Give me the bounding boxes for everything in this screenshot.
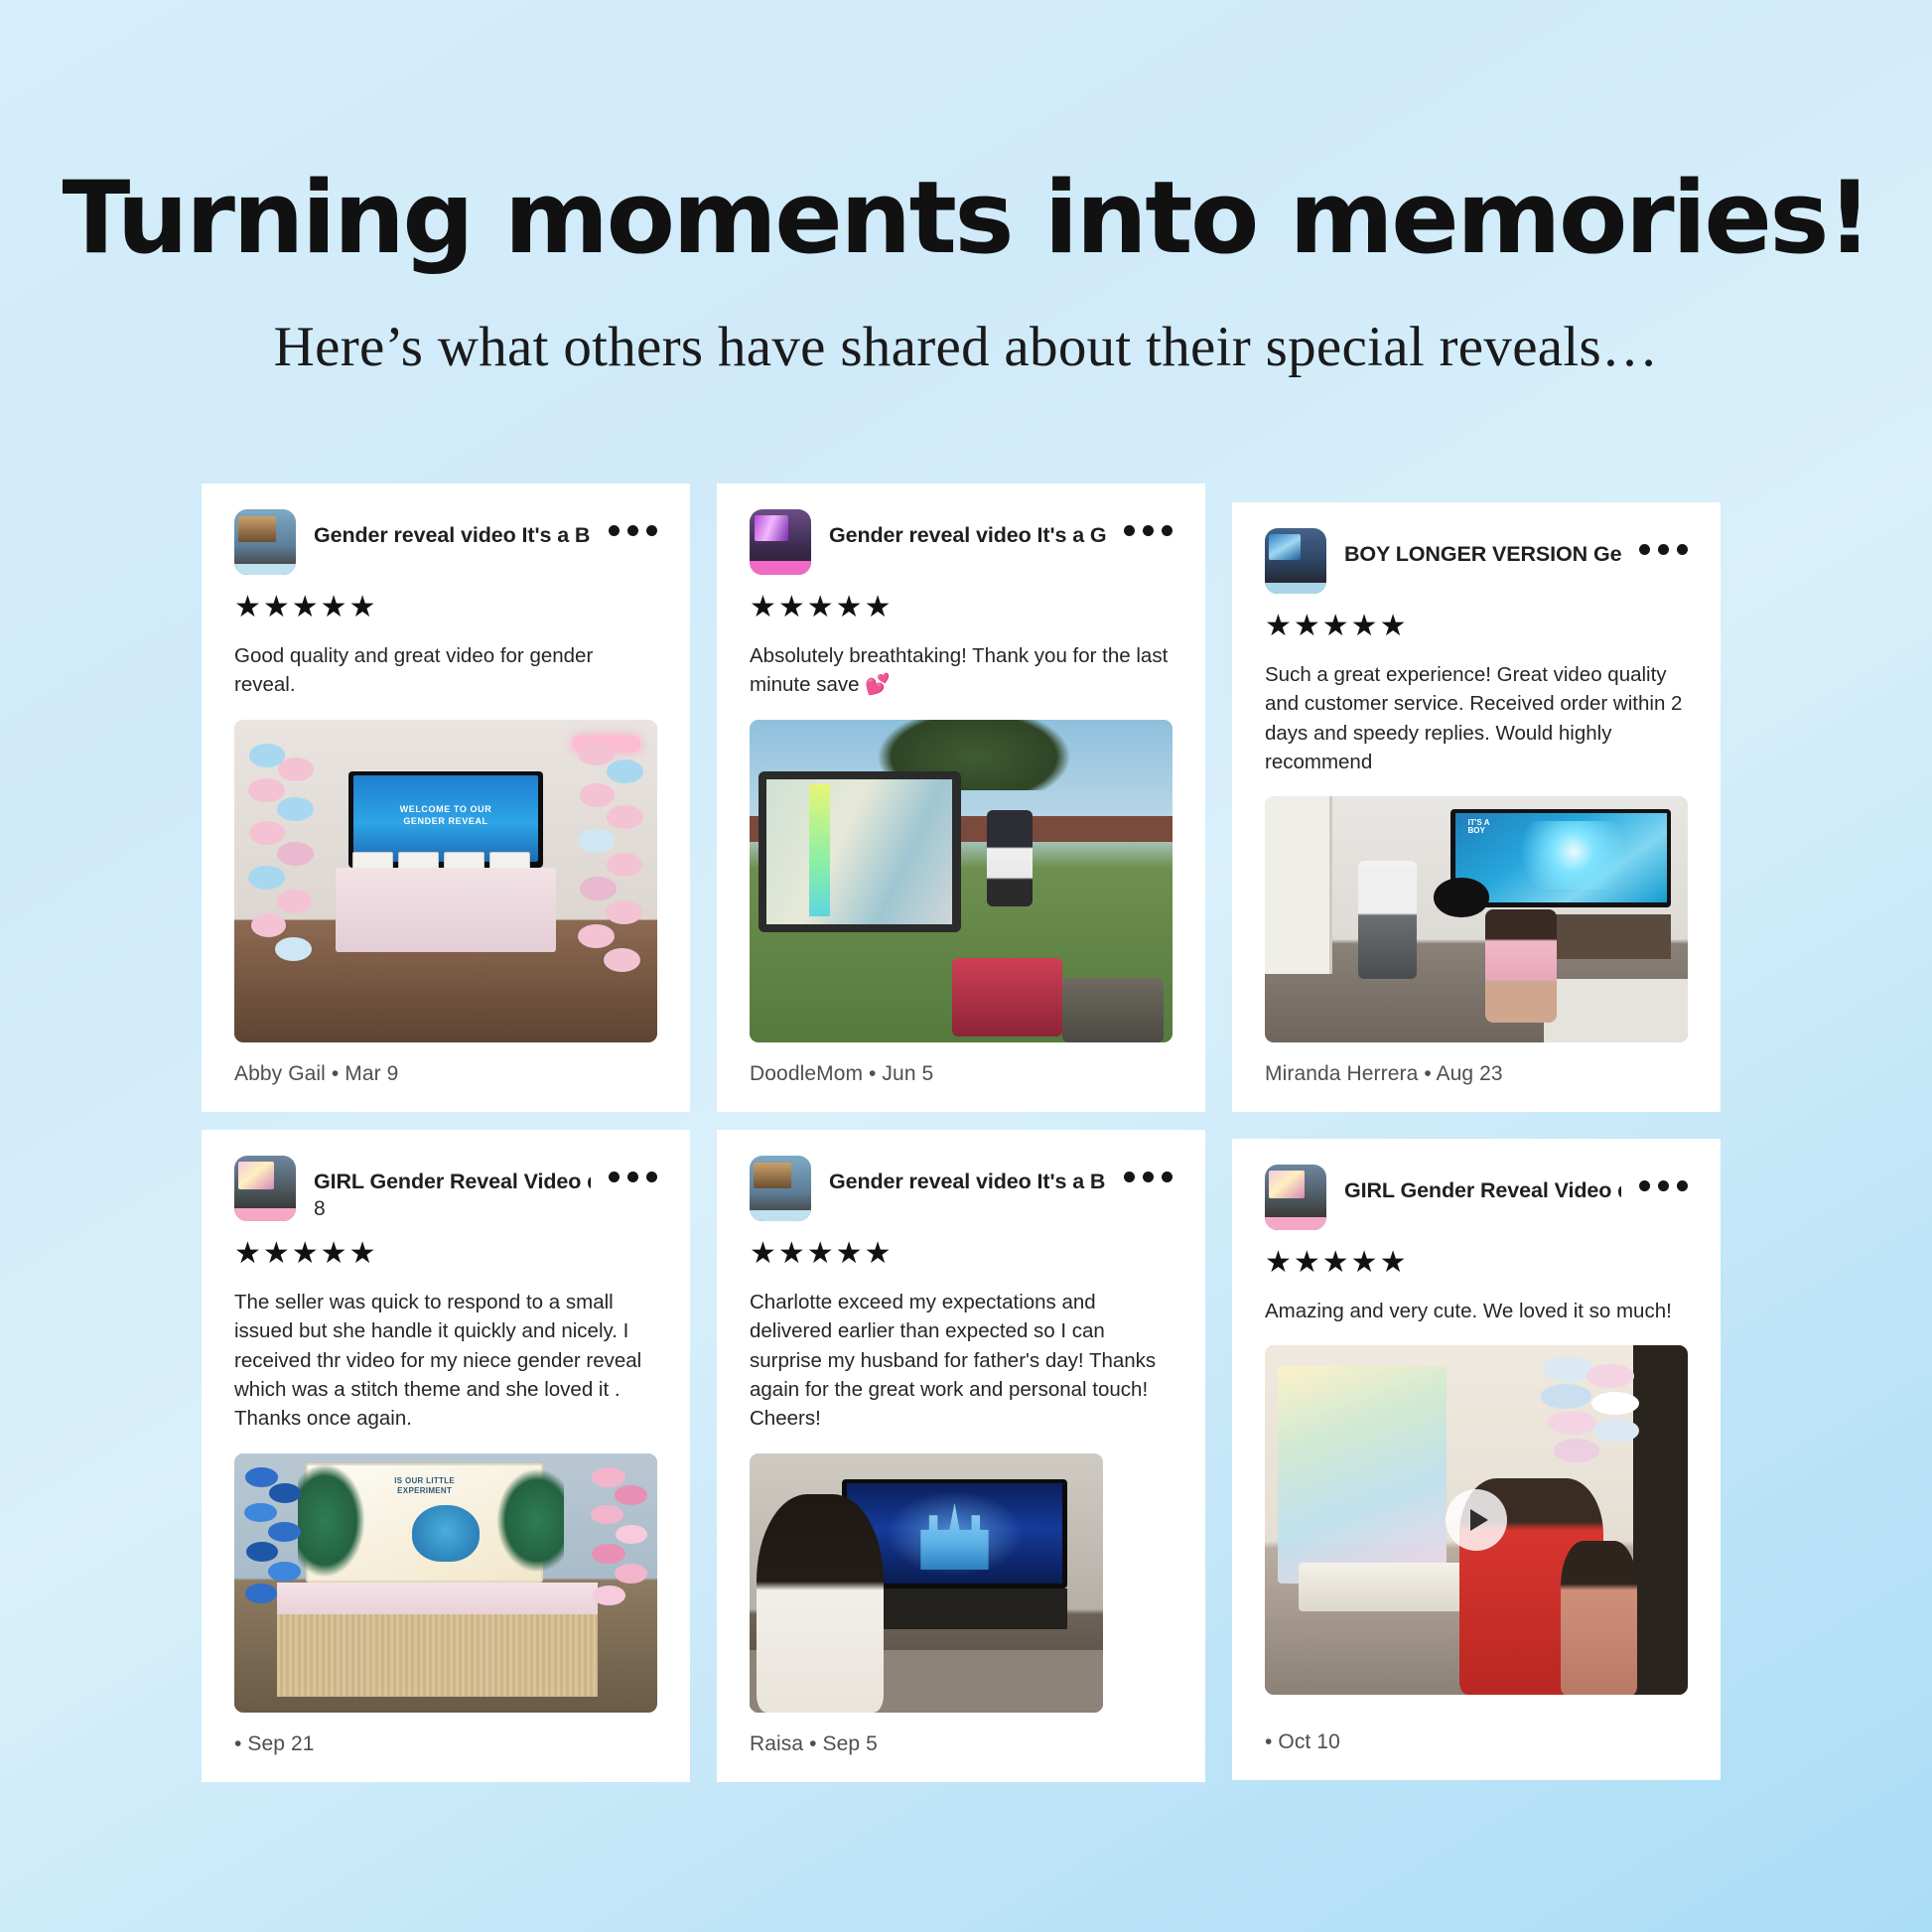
listing-title[interactable]: GIRL Gender Reveal Video digital ... — [1344, 1165, 1621, 1204]
star-rating: ★★★★★ — [750, 593, 1173, 622]
review-card[interactable]: BOY LONGER VERSION Gender ... ★★★★★ Such… — [1232, 502, 1721, 1112]
review-photo[interactable]: WELCOME TO OURGENDER REVEAL — [234, 720, 657, 1042]
review-photo[interactable] — [750, 1453, 1103, 1713]
listing-thumbnail[interactable] — [750, 1156, 811, 1221]
review-card[interactable]: GIRL Gender Reveal Video digital ... 8 ★… — [202, 1130, 690, 1782]
review-photo[interactable]: IS OUR LITTLEEXPERIMENT — [234, 1453, 657, 1713]
listing-item-count: 8 — [314, 1195, 591, 1223]
more-options-icon[interactable] — [609, 509, 657, 536]
review-card-header: GIRL Gender Reveal Video digital ... 8 — [234, 1156, 657, 1221]
review-text: Good quality and great video for gender … — [234, 641, 657, 700]
review-photo[interactable]: IT'S ABOY — [1265, 796, 1688, 1042]
review-card[interactable]: GIRL Gender Reveal Video digital ... ★★★… — [1232, 1139, 1721, 1780]
listing-thumbnail[interactable] — [1265, 528, 1326, 594]
review-photo[interactable] — [750, 720, 1173, 1042]
review-text: Charlotte exceed my expectations and del… — [750, 1288, 1173, 1434]
review-card-header: Gender reveal video It's a Girl! Vide... — [750, 509, 1173, 575]
listing-title[interactable]: BOY LONGER VERSION Gender ... — [1344, 528, 1621, 568]
review-card-header: Gender reveal video It's a Boy! Vide... — [234, 509, 657, 575]
listing-thumbnail[interactable] — [234, 1156, 296, 1221]
review-footer: DoodleMom • Jun 5 — [750, 1042, 1173, 1086]
star-rating: ★★★★★ — [750, 1239, 1173, 1269]
page-title: Turning moments into memories! — [0, 167, 1932, 269]
review-card-header: BOY LONGER VERSION Gender ... — [1265, 528, 1688, 594]
play-icon[interactable] — [1446, 1489, 1507, 1551]
review-card[interactable]: Gender reveal video It's a Boy! Vide... … — [717, 1130, 1205, 1782]
star-rating: ★★★★★ — [234, 1239, 657, 1269]
listing-thumbnail[interactable] — [1265, 1165, 1326, 1230]
review-text: The seller was quick to respond to a sma… — [234, 1288, 657, 1434]
listing-title[interactable]: GIRL Gender Reveal Video digital ... 8 — [314, 1156, 591, 1223]
star-rating: ★★★★★ — [1265, 1248, 1688, 1278]
review-footer: • Sep 21 — [234, 1713, 657, 1756]
review-text: Amazing and very cute. We loved it so mu… — [1265, 1297, 1688, 1325]
more-options-icon[interactable] — [1124, 1156, 1173, 1182]
more-options-icon[interactable] — [1639, 528, 1688, 555]
review-video[interactable] — [1265, 1345, 1688, 1695]
page-subtitle: Here’s what others have shared about the… — [0, 315, 1932, 379]
review-footer: • Oct 10 — [1265, 1711, 1688, 1754]
review-footer: Abby Gail • Mar 9 — [234, 1042, 657, 1086]
review-footer: Raisa • Sep 5 — [750, 1713, 1173, 1756]
review-text: Absolutely breathtaking! Thank you for t… — [750, 641, 1173, 700]
reviews-grid: Gender reveal video It's a Boy! Vide... … — [202, 483, 1730, 1782]
listing-title[interactable]: Gender reveal video It's a Boy! Vide... — [314, 509, 591, 549]
review-footer: Miranda Herrera • Aug 23 — [1265, 1042, 1688, 1086]
listing-thumbnail[interactable] — [750, 509, 811, 575]
review-card-header: Gender reveal video It's a Boy! Vide... — [750, 1156, 1173, 1221]
review-card[interactable]: Gender reveal video It's a Girl! Vide...… — [717, 483, 1205, 1112]
listing-title[interactable]: Gender reveal video It's a Girl! Vide... — [829, 509, 1106, 549]
review-text: Such a great experience! Great video qua… — [1265, 660, 1688, 776]
review-card[interactable]: Gender reveal video It's a Boy! Vide... … — [202, 483, 690, 1112]
star-rating: ★★★★★ — [1265, 612, 1688, 641]
listing-title[interactable]: Gender reveal video It's a Boy! Vide... — [829, 1156, 1106, 1195]
page-header: Turning moments into memories! Here’s wh… — [0, 0, 1932, 379]
more-options-icon[interactable] — [1639, 1165, 1688, 1191]
listing-thumbnail[interactable] — [234, 509, 296, 575]
star-rating: ★★★★★ — [234, 593, 657, 622]
listing-title-text: GIRL Gender Reveal Video digital ... — [314, 1170, 591, 1193]
review-card-header: GIRL Gender Reveal Video digital ... — [1265, 1165, 1688, 1230]
more-options-icon[interactable] — [609, 1156, 657, 1182]
more-options-icon[interactable] — [1124, 509, 1173, 536]
page-root: Turning moments into memories! Here’s wh… — [0, 0, 1932, 1932]
